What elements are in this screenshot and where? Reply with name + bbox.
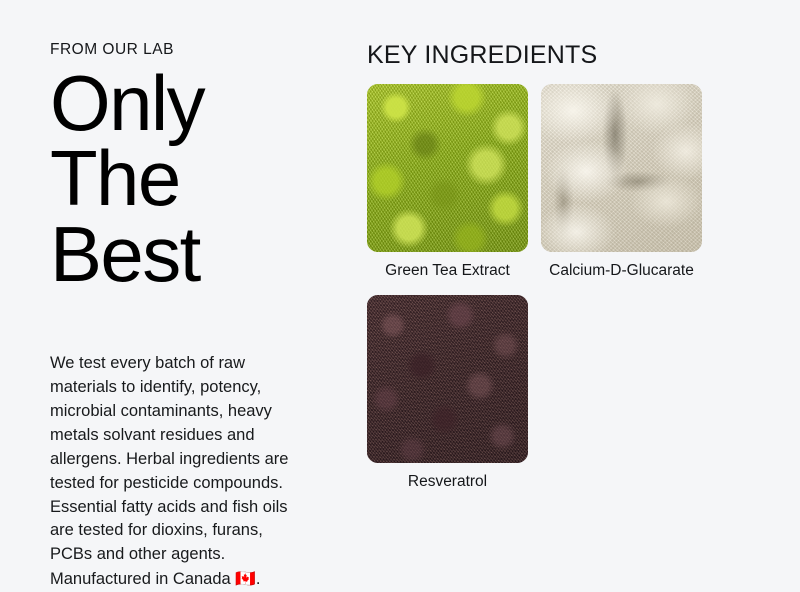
ingredient-card[interactable]: Resveratrol [367,295,528,493]
body-paragraph-text-end: . [256,570,261,588]
intro-block: FROM OUR LAB Only The Best [50,41,320,293]
body-paragraph: We test every batch of raw materials to … [50,352,295,592]
ingredient-image-green-tea-extract[interactable] [367,84,528,252]
ingredient-card[interactable]: Green Tea Extract [367,84,528,282]
ingredient-image-resveratrol[interactable] [367,295,528,463]
green-tea-extract-texture [367,84,528,252]
section-title: KEY INGREDIENTS [367,40,757,70]
page-title: Only The Best [50,66,320,293]
ingredient-label: Green Tea Extract [367,261,528,282]
ingredient-label: Resveratrol [367,472,528,493]
canada-flag-icon: 🇨🇦 [235,567,256,591]
key-ingredients-block: KEY INGREDIENTS Green Tea Extract Calciu… [367,40,757,493]
lab-quality-section: FROM OUR LAB Only The Best We test every… [0,0,800,581]
ingredient-card[interactable]: Calcium-D-Glucarate [541,84,702,282]
calcium-d-glucarate-texture [541,84,702,252]
ingredient-label: Calcium-D-Glucarate [541,261,702,282]
ingredient-grid: Green Tea Extract Calcium-D-Glucarate Re… [367,84,707,493]
ingredient-image-calcium-d-glucarate[interactable] [541,84,702,252]
resveratrol-texture [367,295,528,463]
body-paragraph-text: We test every batch of raw materials to … [50,354,288,588]
eyebrow-label: FROM OUR LAB [50,41,320,60]
